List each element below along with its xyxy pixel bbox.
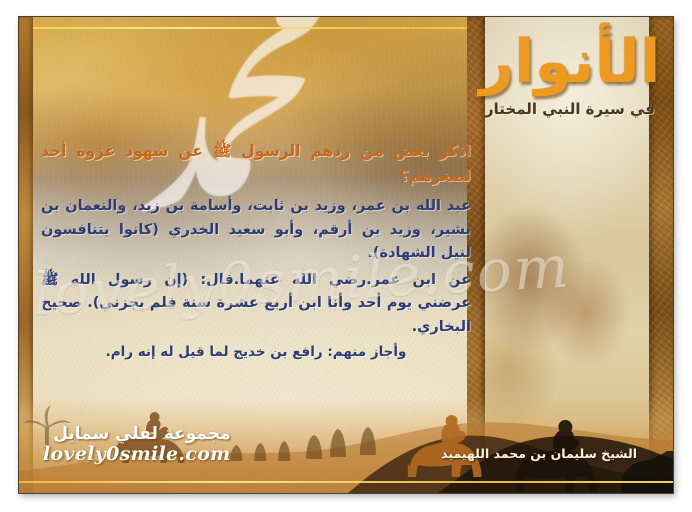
answer-paragraph-2: عن ابن عمر.رضي الله عنهما.قال: (إن رسول … xyxy=(41,269,471,339)
content-column: اذكر بعض من ردهم الرسول ﷺ عن شهود غزوة أ… xyxy=(41,139,471,367)
brand-block[interactable]: مجموعة لفلي سمايل lovely0smile.com xyxy=(43,425,231,465)
brand-arabic-label: مجموعة لفلي سمايل xyxy=(43,425,231,444)
answer-paragraph-3: وأجاز منهم: رافع بن خديج لما قيل له إنه … xyxy=(41,342,471,364)
page-title: الأنوار xyxy=(467,31,673,94)
poster-root: ﷴ الأنوار في سيرة النبي المختار اذكر بعض… xyxy=(0,0,692,512)
bottom-gold-rule xyxy=(19,481,673,483)
brand-url-label[interactable]: lovely0smile.com xyxy=(43,444,231,465)
page-subtitle: في سيرة النبي المختار xyxy=(467,100,673,118)
title-block: الأنوار في سيرة النبي المختار xyxy=(467,31,673,118)
question-text: اذكر بعض من ردهم الرسول ﷺ عن شهود غزوة أ… xyxy=(41,139,471,189)
answer-paragraph-1: عبد الله بن عمر، وزيد بن ثابت، وأسامة بن… xyxy=(41,195,471,265)
author-credit: الشيخ سليمان بن محمد اللهيميد xyxy=(441,446,637,461)
poster-frame: ﷴ الأنوار في سيرة النبي المختار اذكر بعض… xyxy=(18,16,674,494)
